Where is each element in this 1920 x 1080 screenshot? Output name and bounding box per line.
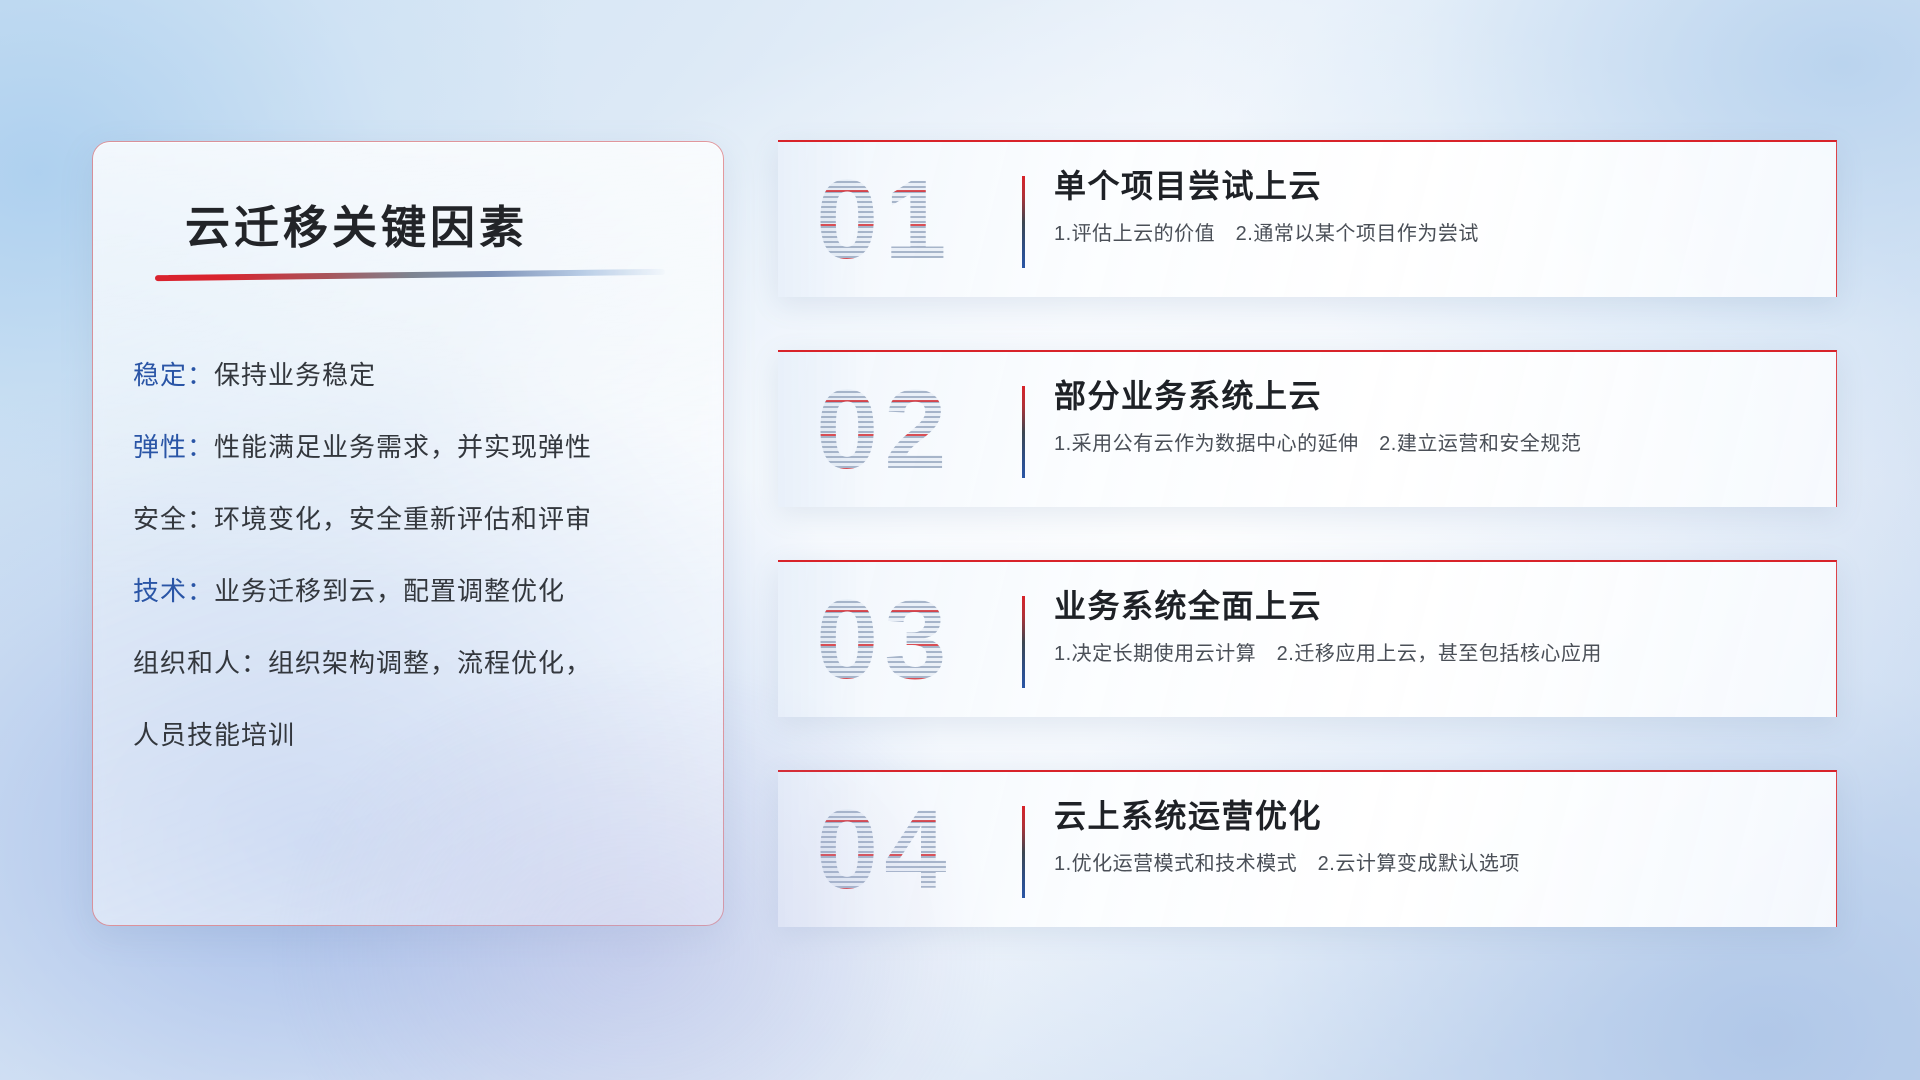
stage-card[interactable]: 01 01 01 单个项目尝试上云 1.评估上云的价值 2.通常以某个项目作为尝… [778,140,1837,297]
list-item: 组织和人：组织架构调整，流程优化， [133,650,699,676]
stage-title: 单个项目尝试上云 [1054,168,1806,205]
stage-divider [1022,806,1025,898]
list-item-text: 人员技能培训 [133,720,295,750]
list-item: 稳定：保持业务稳定 [133,362,699,388]
list-item-text: 业务迁移到云，配置调整优化 [214,576,565,606]
stage-number-red-overlay: 02 [816,366,1016,494]
stage-divider [1022,596,1025,688]
stage-divider [1022,176,1025,268]
list-item: 弹性：性能满足业务需求，并实现弹性 [133,434,699,460]
list-item-text: 组织架构调整，流程优化， [268,648,592,678]
title-underline-rule [155,269,665,281]
stage-card-body: 云上系统运营优化 1.优化运营模式和技术模式 2.云计算变成默认选项 [1054,798,1806,876]
stage-title: 部分业务系统上云 [1054,378,1806,415]
stage-divider [1022,386,1025,478]
list-item-label: 稳定： [133,360,214,390]
stage-card-body: 业务系统全面上云 1.决定长期使用云计算 2.迁移应用上云，甚至包括核心应用 [1054,588,1806,666]
stage-card-body: 单个项目尝试上云 1.评估上云的价值 2.通常以某个项目作为尝试 [1054,168,1806,246]
slide-canvas: 云迁移关键因素 稳定：保持业务稳定 弹性：性能满足业务需求，并实现弹性 安全：环… [0,0,1920,1080]
page-title: 云迁移关键因素 [185,191,528,256]
stage-number-red-overlay: 01 [816,156,1016,284]
stage-description: 1.决定长期使用云计算 2.迁移应用上云，甚至包括核心应用 [1054,642,1806,666]
list-item-text: 保持业务稳定 [214,360,376,390]
stage-title: 业务系统全面上云 [1054,588,1806,625]
stage-description: 1.采用公有云作为数据中心的延伸 2.建立运营和安全规范 [1054,432,1806,456]
stage-title: 云上系统运营优化 [1054,798,1806,835]
list-item-text: 环境变化，安全重新评估和评审 [214,504,592,534]
stage-description: 1.优化运营模式和技术模式 2.云计算变成默认选项 [1054,852,1806,876]
list-item-label: 技术： [133,576,214,606]
list-item: 安全：环境变化，安全重新评估和评审 [133,506,699,532]
stage-card-body: 部分业务系统上云 1.采用公有云作为数据中心的延伸 2.建立运营和安全规范 [1054,378,1806,456]
migration-stage-cards: 01 01 01 单个项目尝试上云 1.评估上云的价值 2.通常以某个项目作为尝… [778,140,1837,927]
key-factors-panel: 云迁移关键因素 稳定：保持业务稳定 弹性：性能满足业务需求，并实现弹性 安全：环… [92,141,724,926]
stage-number-red-overlay: 03 [816,576,1016,704]
stage-card[interactable]: 02 02 02 部分业务系统上云 1.采用公有云作为数据中心的延伸 2.建立运… [778,350,1837,507]
list-item-label: 弹性： [133,432,214,462]
list-item-text: 性能满足业务需求，并实现弹性 [214,432,592,462]
key-factors-list: 稳定：保持业务稳定 弹性：性能满足业务需求，并实现弹性 安全：环境变化，安全重新… [133,362,699,748]
stage-number-red-overlay: 04 [816,786,1016,914]
stage-card[interactable]: 04 04 04 云上系统运营优化 1.优化运营模式和技术模式 2.云计算变成默… [778,770,1837,927]
list-item: 人员技能培训 [133,722,699,748]
list-item-label: 组织和人： [133,648,268,678]
list-item-label: 安全： [133,504,214,534]
list-item: 技术：业务迁移到云，配置调整优化 [133,578,699,604]
stage-card[interactable]: 03 03 03 业务系统全面上云 1.决定长期使用云计算 2.迁移应用上云，甚… [778,560,1837,717]
stage-description: 1.评估上云的价值 2.通常以某个项目作为尝试 [1054,222,1806,246]
